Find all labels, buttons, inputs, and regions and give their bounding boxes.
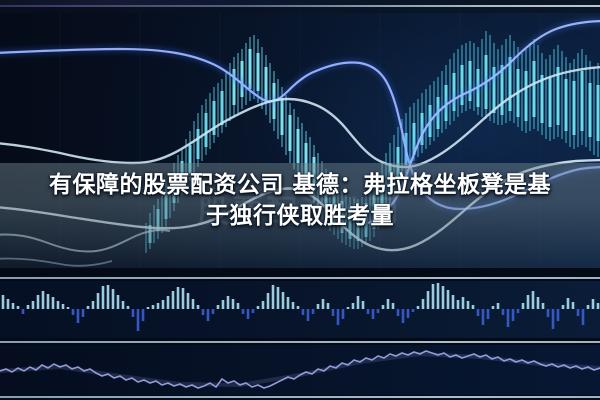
- price-chart-svg: [0, 13, 600, 268]
- histogram-svg: [0, 281, 600, 338]
- price-chart-panel: [0, 13, 600, 268]
- candles-right-rally: [378, 31, 598, 229]
- indicator-line-glow: [0, 354, 600, 385]
- candles-peak-cluster: [226, 35, 318, 211]
- left-wave-line-2: [0, 258, 112, 265]
- indicator-svg: [0, 345, 600, 395]
- indicator-panel: [0, 345, 600, 395]
- stock-chart-banner: 股票配资公司 有保障的股票配资公司 基德：弗拉格坐板凳是基 于独行侠取胜考量: [0, 0, 600, 400]
- panel-gap-top: [0, 268, 600, 277]
- left-wave-line: [0, 230, 170, 251]
- histogram-panel: [0, 281, 600, 338]
- histogram-bars: [3, 283, 598, 331]
- candles-mid-dip: [322, 161, 374, 249]
